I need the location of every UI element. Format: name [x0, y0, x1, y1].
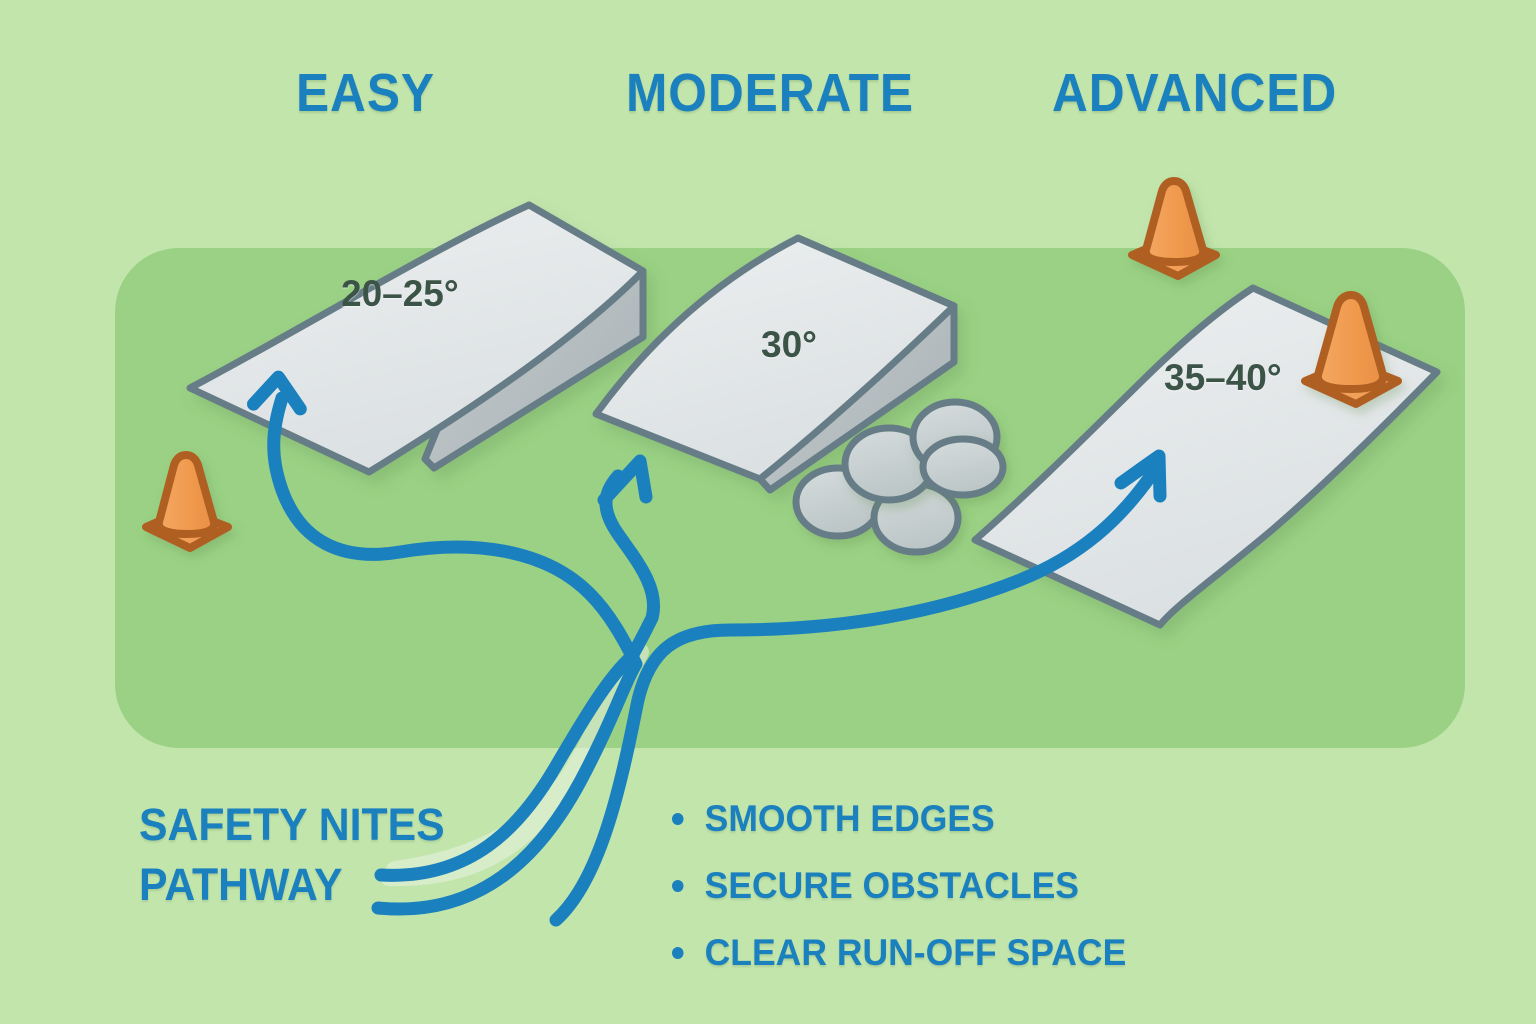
heading-easy: EASY	[296, 62, 435, 124]
heading-moderate: MODERATE	[626, 62, 914, 124]
pathway-line-2: PATHWAY	[139, 855, 481, 915]
rock	[923, 439, 1003, 495]
angle-label-easy: 20–25°	[341, 273, 459, 315]
angle-label-advanced: 35–40°	[1164, 357, 1282, 399]
checklist-item: SMOOTH EDGES	[672, 798, 1126, 840]
angle-label-moderate: 30°	[761, 324, 817, 366]
checklist-item: SECURE OBSTACLES	[672, 865, 1126, 907]
heading-advanced: ADVANCED	[1052, 62, 1337, 124]
illustration-canvas: EASY MODERATE ADVANCED 20–25° 30° 35–40°…	[0, 0, 1536, 1024]
pathway-line-1: SAFETY NITES	[139, 795, 481, 855]
checklist-item: CLEAR RUN-OFF SPACE	[672, 932, 1126, 974]
pathway-caption: SAFETY NITES PATHWAY	[139, 795, 481, 915]
safety-checklist: SMOOTH EDGES SECURE OBSTACLES CLEAR RUN-…	[672, 798, 1145, 999]
